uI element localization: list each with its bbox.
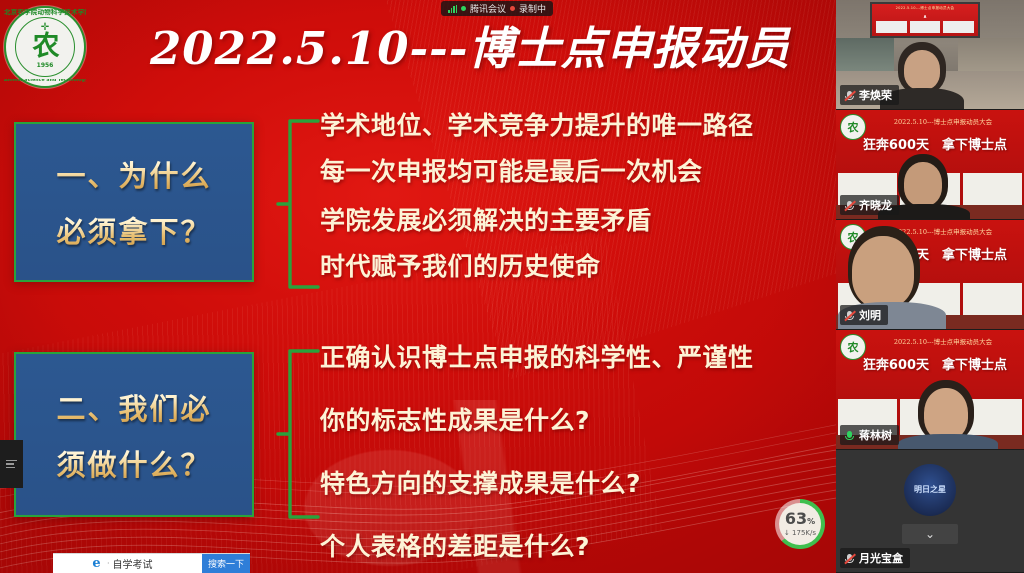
microphone-active-icon (844, 430, 855, 441)
topic-two-line-2: 须做什么？ (56, 442, 211, 484)
microphone-muted-icon (844, 553, 855, 564)
hidden-side-panel[interactable] (0, 440, 23, 488)
ie-browser-icon: e (89, 556, 104, 571)
topic-two-line-1: 二、我们必 (56, 386, 211, 428)
chevron-down-icon[interactable]: ⌄ (902, 524, 958, 544)
logo-emblem: 农 (33, 33, 58, 60)
tile-banner-title: 2022.5.10---博士点申报动员大会 (866, 116, 1020, 126)
participant-tile[interactable]: 农 2022.5.10---博士点申报动员大会 狂奔600天 拿下博士点 蒋林树 (836, 330, 1024, 450)
slide-title: 2022.5.10---博士点申报动员 (150, 14, 836, 84)
logo-year: 1956 (4, 62, 86, 69)
topic-one-line-2: 必须拿下？ (56, 209, 211, 251)
speed-rate-label: ↓ 175K/s (784, 529, 816, 537)
search-input[interactable]: 自学考试 (113, 556, 202, 571)
topic-one-point-1: 学术地位、学术竞争力提升的唯一路径 (320, 106, 820, 142)
microphone-muted-icon (844, 90, 855, 101)
recording-dot-icon (510, 6, 515, 11)
topic-one-point-3: 学院发展必须解决的主要矛盾 (320, 201, 820, 237)
participant-nametag: 蒋林树 (840, 425, 899, 445)
participant-name: 李焕荣 (859, 87, 892, 103)
shared-screen-slide[interactable]: 北京农学院动物科学技术学院 ✛ 农 1956 Animal Science an… (0, 0, 836, 573)
topic-one-line-1: 一、为什么 (56, 153, 211, 195)
participant-nametag: 刘明 (840, 305, 888, 325)
download-speed-widget[interactable]: 63% ↓ 175K/s (775, 499, 825, 549)
menu-lines-icon (6, 458, 17, 471)
topic-one-points: 学术地位、学术竞争力提升的唯一路径 每一次申报均可能是最后一次机会 学院发展必须… (320, 106, 820, 293)
topic-box-two: 二、我们必 须做什么？ (14, 352, 254, 517)
bracket-connector-two (276, 348, 320, 520)
browser-search-bar[interactable]: e · 自学考试 搜索一下 (53, 553, 250, 573)
microphone-muted-icon (844, 310, 855, 321)
participant-nametag: 李焕荣 (840, 85, 899, 105)
signal-strength-icon (448, 5, 457, 13)
speed-percent: 63% (785, 511, 815, 527)
topic-two-point-1: 正确认识博士点申报的科学性、严谨性 (320, 338, 820, 374)
participant-tile[interactable]: 2022.5.10---博士点申报动员大会 ∧ 李焕荣 (836, 0, 1024, 110)
participant-name: 月光宝盒 (859, 550, 903, 566)
participant-name: 刘明 (859, 307, 881, 323)
participant-video-rail[interactable]: 2022.5.10---博士点申报动员大会 ∧ 李焕荣 农 2022.5.10-… (836, 0, 1024, 573)
tile-banner-subtitle: ∧ (872, 14, 978, 20)
participant-nametag: 齐晓龙 (840, 195, 899, 215)
participant-tile[interactable]: 农 2022.5.10---博士点申报动员大会 狂奔600天 拿下博士点 刘明 (836, 220, 1024, 330)
status-dot-icon (461, 6, 466, 11)
participant-name: 齐晓龙 (859, 197, 892, 213)
topic-one-point-4: 时代赋予我们的历史使命 (320, 247, 820, 283)
tile-banner-title: 2022.5.10---博士点申报动员大会 (866, 336, 1020, 346)
meeting-screen: 北京农学院动物科学技术学院 ✛ 农 1956 Animal Science an… (0, 0, 1024, 573)
avatar-text: 明日之星 (914, 486, 946, 495)
topic-one-point-2: 每一次申报均可能是最后一次机会 (320, 152, 820, 188)
topic-box-one: 一、为什么 必须拿下？ (14, 122, 254, 282)
topic-two-point-3: 特色方向的支撑成果是什么? (320, 464, 820, 500)
bracket-connector-one (276, 118, 320, 290)
tile-banner-title: 2022.5.10---博士点申报动员大会 (872, 6, 978, 11)
participant-tile[interactable]: 明日之星 ⌄ 月光宝盒 (836, 450, 1024, 573)
participant-tile[interactable]: 农 2022.5.10---博士点申报动员大会 狂奔600天 拿下博士点 齐晓龙 (836, 110, 1024, 220)
topic-two-points: 正确认识博士点申报的科学性、严谨性 你的标志性成果是什么? 特色方向的支撑成果是… (320, 338, 820, 573)
logo-arc-bottom-text: Animal Science and Technology College (4, 79, 86, 84)
search-button[interactable]: 搜索一下 (202, 554, 250, 573)
microphone-muted-icon (844, 200, 855, 211)
logo-arc-top-text: 北京农学院动物科学技术学院 (4, 9, 86, 16)
participant-nametag: 月光宝盒 (840, 548, 910, 568)
separator-dot: · (107, 559, 110, 568)
topic-two-point-2: 你的标志性成果是什么? (320, 401, 820, 437)
tile-banner-slogan: 狂奔600天 拿下博士点 (850, 354, 1020, 373)
participant-name: 蒋林树 (859, 427, 892, 443)
avatar: 明日之星 (904, 464, 956, 516)
tile-banner-slogan: 狂奔600天 拿下博士点 (850, 134, 1020, 153)
college-logo: 北京农学院动物科学技术学院 ✛ 农 1956 Animal Science an… (4, 6, 86, 88)
topic-two-point-4: 个人表格的差距是什么? (320, 527, 820, 563)
